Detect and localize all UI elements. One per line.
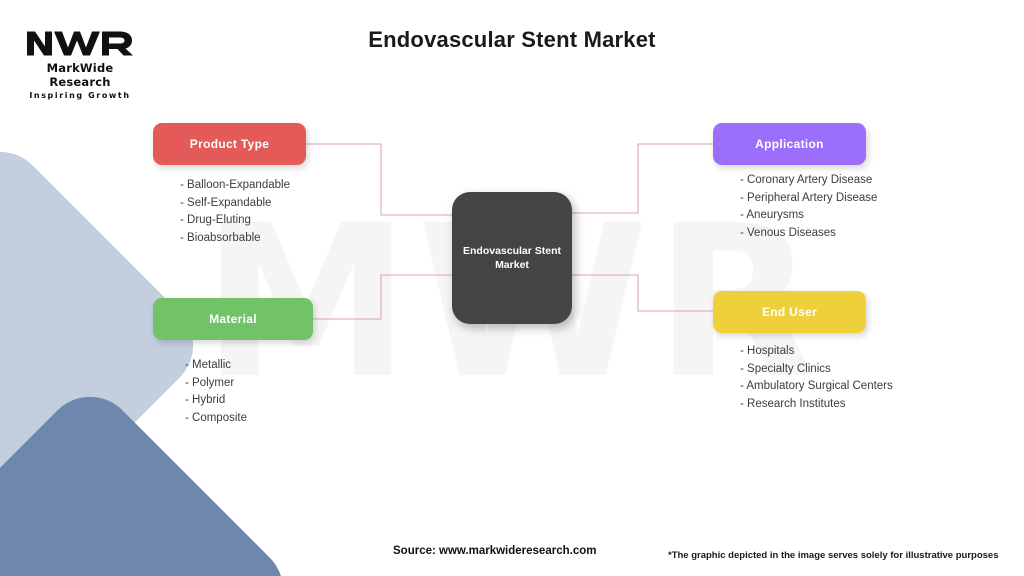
list-item: - Hybrid (185, 392, 247, 410)
center-node[interactable]: Endovascular Stent Market (452, 192, 572, 324)
category-label-material: Material (209, 312, 257, 326)
category-box-end-user[interactable]: End User (713, 291, 866, 333)
list-item: - Ambulatory Surgical Centers (740, 378, 893, 396)
category-label-end-user: End User (762, 305, 817, 319)
list-item: - Venous Diseases (740, 225, 877, 243)
category-box-product-type[interactable]: Product Type (153, 123, 306, 165)
list-item: - Aneurysms (740, 207, 877, 225)
connector-application (572, 144, 713, 213)
category-list-end-user: - Hospitals - Specialty Clinics - Ambula… (740, 343, 893, 413)
center-node-label: Endovascular Stent Market (452, 244, 572, 272)
list-item: - Bioabsorbable (180, 230, 290, 248)
list-item: - Research Institutes (740, 396, 893, 414)
list-item: - Polymer (185, 375, 247, 393)
list-item: - Drug-Eluting (180, 212, 290, 230)
list-item: - Metallic (185, 357, 247, 375)
category-list-product-type: - Balloon-Expandable - Self-Expandable -… (180, 177, 290, 247)
list-item: - Coronary Artery Disease (740, 172, 877, 190)
infographic-canvas: MWR MarkWide Research Inspiring Growth E… (0, 0, 1024, 576)
category-list-material: - Metallic - Polymer - Hybrid - Composit… (185, 357, 247, 427)
list-item: - Peripheral Artery Disease (740, 190, 877, 208)
category-list-application: - Coronary Artery Disease - Peripheral A… (740, 172, 877, 242)
category-box-application[interactable]: Application (713, 123, 866, 165)
list-item: - Hospitals (740, 343, 893, 361)
category-box-material[interactable]: Material (153, 298, 313, 340)
connector-material (313, 275, 452, 319)
list-item: - Balloon-Expandable (180, 177, 290, 195)
list-item: - Self-Expandable (180, 195, 290, 213)
list-item: - Composite (185, 410, 247, 428)
list-item: - Specialty Clinics (740, 361, 893, 379)
category-label-application: Application (755, 137, 824, 151)
connector-end-user (572, 275, 713, 311)
category-label-product-type: Product Type (190, 137, 269, 151)
source-text: Source: www.markwideresearch.com (393, 545, 596, 557)
disclaimer-text: *The graphic depicted in the image serve… (668, 550, 999, 561)
connector-product-type (306, 144, 452, 215)
